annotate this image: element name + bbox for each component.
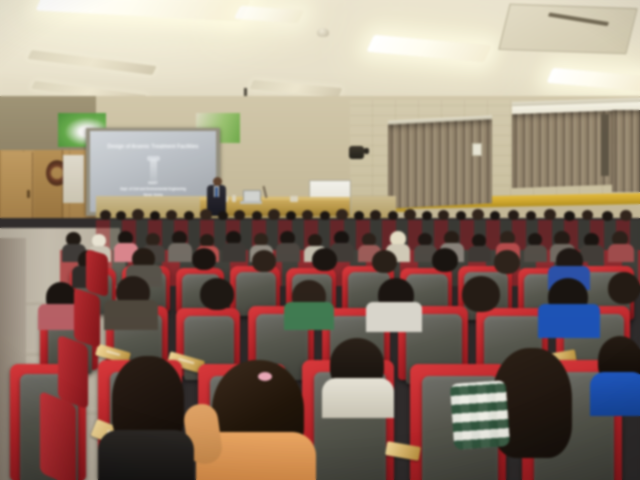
audience-head [422, 211, 432, 220]
audience-head [370, 210, 381, 220]
smoke-detector-icon [317, 28, 329, 37]
audience-head [564, 211, 575, 221]
audience-head [200, 278, 234, 310]
audience-head [432, 248, 458, 272]
audience-head [312, 248, 337, 271]
audience-head [336, 209, 348, 220]
audience-head [286, 211, 296, 220]
audience-body [468, 246, 491, 262]
seat-profile[interactable] [86, 249, 108, 297]
attendee-body [98, 430, 194, 480]
desk-object [290, 196, 298, 202]
audience-head [490, 211, 500, 220]
audience-head [354, 211, 364, 220]
audience-head [608, 272, 640, 304]
attendee-plaid-shirt [450, 380, 510, 450]
audience-body [222, 243, 246, 262]
seat-profile[interactable] [58, 335, 88, 410]
window-curtain [612, 110, 640, 192]
audience-head [494, 250, 520, 274]
slide-graphic-icon [150, 159, 157, 181]
slide-title: Design of Arsenic Treatment Facilities [90, 144, 216, 150]
audience-head [388, 211, 398, 220]
hair-tie-icon [258, 372, 272, 381]
slide-author-line: Dept. of Civil and Environmental Enginee… [90, 187, 216, 191]
presenter-head [213, 177, 222, 186]
audience-head [166, 210, 177, 220]
audience-head [620, 210, 632, 221]
wall-speaker-icon [364, 148, 369, 154]
audience-head [192, 248, 216, 270]
audience-body [276, 243, 300, 262]
audience-head [404, 209, 416, 220]
laptop [240, 201, 262, 204]
audience-head [320, 211, 330, 220]
audience-head [462, 276, 500, 312]
window-curtain [388, 119, 492, 208]
window-gap-dark [601, 114, 609, 176]
audience-head [234, 210, 245, 220]
audience-head [150, 211, 160, 220]
audience-head [268, 209, 280, 220]
audience-head [252, 250, 276, 272]
audience-head [252, 211, 262, 220]
audience-head [218, 211, 228, 220]
white-wall-panel [63, 155, 84, 203]
audience-body [284, 302, 334, 330]
audience-body [580, 245, 604, 262]
presenter-tie [215, 187, 218, 197]
audience-body [608, 244, 634, 262]
attendee-body [590, 372, 640, 416]
audience-head [456, 211, 466, 220]
audience-head [100, 210, 111, 220]
lecture-hall-photo: Design of Arsenic Treatment Facilities K… [0, 0, 640, 480]
door-handle-icon[interactable] [27, 190, 30, 198]
audience-head [302, 210, 313, 220]
audience-head [200, 209, 212, 220]
slide-author-line: KAIST [90, 181, 216, 185]
audience-head [602, 211, 613, 221]
light-switch-plate[interactable] [472, 143, 482, 156]
audience-head [544, 209, 556, 220]
seat-profile[interactable] [40, 391, 76, 480]
audience-head [582, 210, 593, 220]
attendee-body [322, 378, 394, 418]
audience-head [508, 210, 519, 220]
wall-speaker-icon [349, 146, 364, 159]
audience-head [184, 211, 194, 220]
audience-head [116, 211, 126, 220]
audience-body [524, 245, 547, 262]
audience-head [132, 209, 144, 220]
seat-profile[interactable] [74, 288, 100, 348]
audience-head [526, 211, 536, 220]
audience-head [438, 210, 449, 220]
audience-head [372, 250, 397, 273]
audience-body [104, 300, 158, 330]
audience-body [538, 304, 600, 338]
audience-head [472, 209, 484, 220]
audience-body [366, 302, 422, 332]
ceiling-vent [498, 4, 637, 54]
audience-body [168, 243, 192, 262]
desk-object [232, 195, 236, 202]
